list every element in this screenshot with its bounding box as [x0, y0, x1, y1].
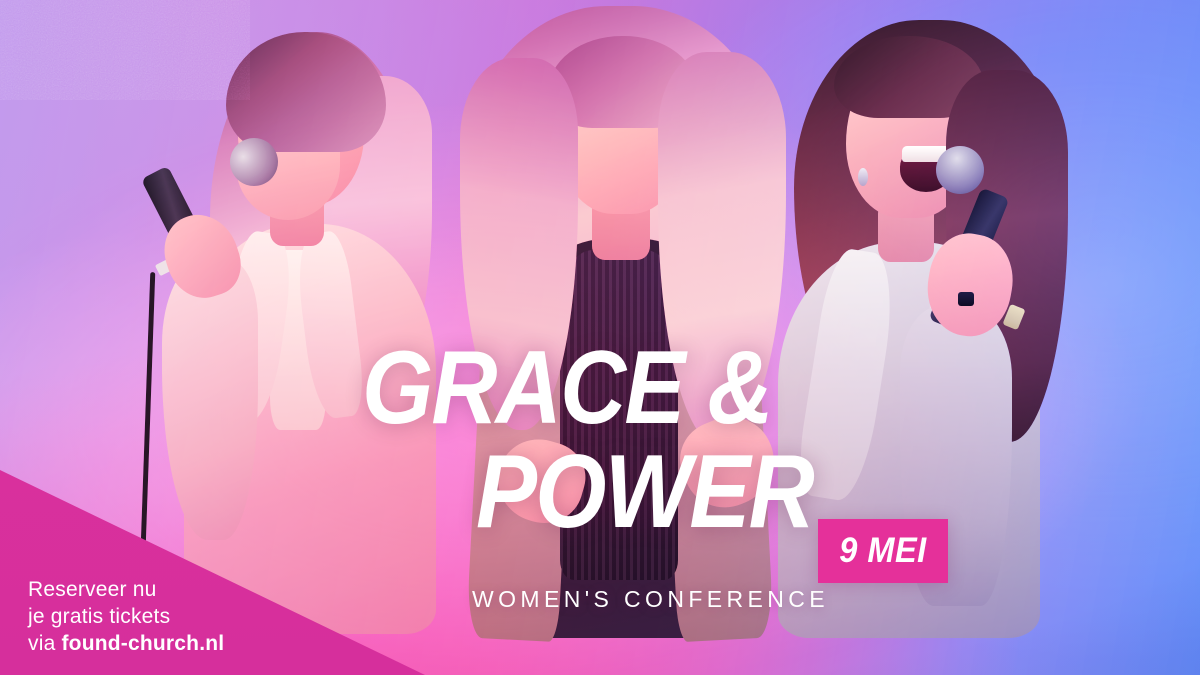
event-poster: GRACE & POWER WOMEN'S CONFERENCE 9 MEI R…	[0, 0, 1200, 675]
